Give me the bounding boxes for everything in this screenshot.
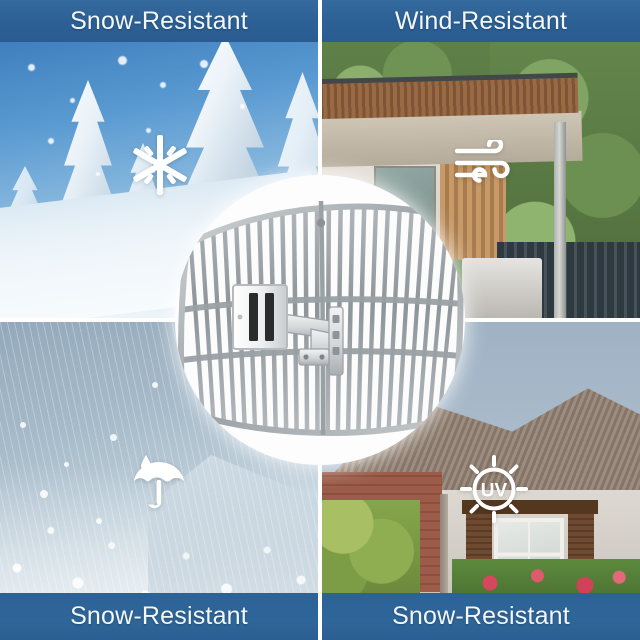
product-feature-collage: UV <box>0 0 640 640</box>
water-droplet <box>152 382 158 388</box>
support-post <box>554 122 566 320</box>
water-droplet <box>96 518 102 524</box>
falling-snow-particle <box>118 56 127 65</box>
falling-snow-particle <box>28 64 35 71</box>
wind-icon <box>455 140 519 191</box>
water-droplet <box>20 422 26 428</box>
banner-wind-resistant-top-right: Wind-Resistant <box>322 0 640 42</box>
downspout <box>440 494 448 593</box>
banner-snow-resistant-bottom-right: Snow-Resistant <box>322 593 640 640</box>
banner-snow-resistant-bottom-left: Snow-Resistant <box>0 593 318 640</box>
banner-label: Wind-Resistant <box>395 7 567 36</box>
water-droplet <box>40 490 48 498</box>
dish-centre-spine <box>321 201 323 435</box>
falling-snow-particle <box>96 172 100 176</box>
banner-label: Snow-Resistant <box>392 602 570 631</box>
product-circle-parabolic-grid-antenna <box>175 175 465 465</box>
wood-slat-fascia <box>322 73 578 119</box>
uv-label: UV <box>481 481 508 502</box>
falling-snow-particle <box>200 60 208 68</box>
roof-soffit <box>322 111 583 168</box>
water-droplet <box>64 462 69 467</box>
water-droplet <box>110 434 117 441</box>
umbrella-rain-icon <box>130 453 188 520</box>
banner-label: Snow-Resistant <box>70 602 248 631</box>
outdoor-unit <box>462 258 542 320</box>
falling-snow-particle <box>160 82 166 88</box>
uv-sun-icon: UV <box>460 455 528 528</box>
falling-snow-particle <box>48 138 54 144</box>
garden-shrub <box>322 500 420 593</box>
antenna-illustration <box>175 189 465 451</box>
feed-horn <box>233 285 287 349</box>
falling-snow-particle <box>240 104 245 109</box>
rose-bush <box>452 559 640 593</box>
falling-snow-particle <box>70 98 75 103</box>
banner-snow-resistant-top-left: Snow-Resistant <box>0 0 318 42</box>
spine-bolt <box>317 219 325 227</box>
banner-label: Snow-Resistant <box>70 7 248 36</box>
